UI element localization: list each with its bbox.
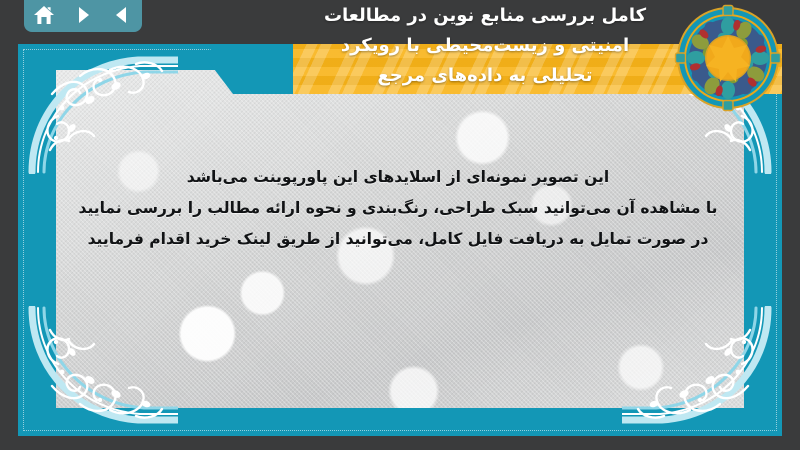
body-line-2: با مشاهده آن می‌توانید سبک طراحی، رنگ‌بن… [78, 193, 718, 224]
home-button[interactable] [30, 3, 58, 27]
left-gutter [0, 0, 18, 450]
right-gutter [782, 0, 800, 450]
next-slide-button[interactable] [69, 3, 97, 27]
medallion-ornament-icon [674, 4, 782, 112]
title-line-2: امنیتی و زیست‌محیطی با رویکرد [270, 31, 700, 61]
prev-slide-button[interactable] [108, 3, 136, 27]
body-line-1: این تصویر نمونه‌ای از اسلایدهای این پاور… [78, 162, 718, 193]
slide-nav-controls [24, 0, 142, 32]
slide-viewer: این تصویر نمونه‌ای از اسلایدهای این پاور… [0, 0, 800, 450]
triangle-left-icon [112, 5, 132, 25]
title-line-1: کامل بررسی منابع نوین در مطالعات [270, 1, 700, 31]
slide-body-text: این تصویر نمونه‌ای از اسلایدهای این پاور… [78, 162, 718, 255]
triangle-right-icon [73, 5, 93, 25]
home-icon [33, 5, 55, 25]
title-line-3: تحلیلی به داده‌های مرجع [270, 61, 700, 91]
bottom-gutter [0, 436, 800, 450]
body-line-3: در صورت تمایل به دریافت فایل کامل، می‌تو… [78, 224, 718, 255]
slide-title: کامل بررسی منابع نوین در مطالعات امنیتی … [270, 1, 700, 91]
slide-frame: این تصویر نمونه‌ای از اسلایدهای این پاور… [18, 44, 782, 436]
